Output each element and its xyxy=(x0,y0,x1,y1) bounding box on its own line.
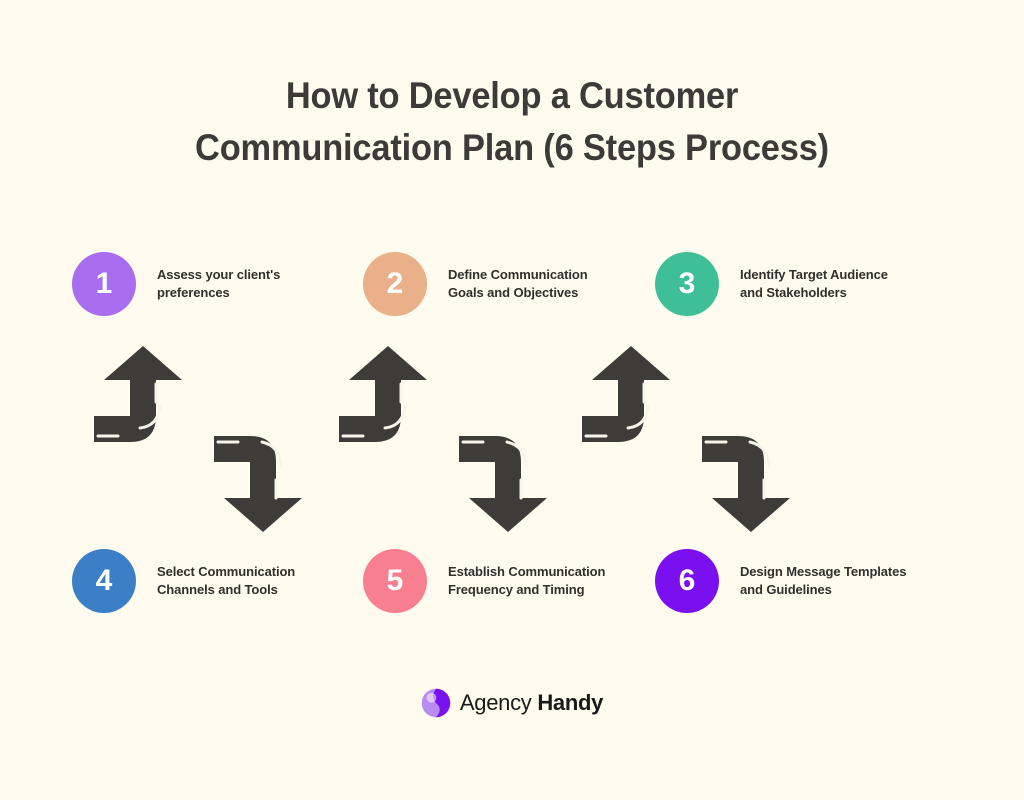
step-item-3[interactable]: 3 Identify Target Audience and Stakehold… xyxy=(655,252,888,316)
step-label-3-line-1: Identify Target Audience xyxy=(740,266,888,285)
step-label-4-line-1: Select Communication xyxy=(157,563,295,582)
step-number-badge-2: 2 xyxy=(363,252,427,316)
step-label-6-line-1: Design Message Templates xyxy=(740,563,906,582)
brand-name-handy: Handy xyxy=(537,690,603,715)
step-label-5-line-1: Establish Communication xyxy=(448,563,605,582)
step-label-1-line-1: Assess your client's xyxy=(157,266,280,285)
agency-handy-swirl-icon xyxy=(421,688,451,718)
step-label-1: Assess your client's preferences xyxy=(157,266,280,303)
step-label-2: Define Communication Goals and Objective… xyxy=(448,266,588,303)
arrow-up-icon-2 xyxy=(325,340,445,460)
page-title: How to Develop a Customer Communication … xyxy=(0,70,1024,174)
step-item-4[interactable]: 4 Select Communication Channels and Tool… xyxy=(72,549,295,613)
step-label-5: Establish Communication Frequency and Ti… xyxy=(448,563,605,600)
step-label-2-line-2: Goals and Objectives xyxy=(448,284,588,303)
step-label-5-line-2: Frequency and Timing xyxy=(448,581,605,600)
arrow-up-icon-1 xyxy=(80,340,200,460)
step-item-6[interactable]: 6 Design Message Templates and Guideline… xyxy=(655,549,906,613)
step-label-6-line-2: and Guidelines xyxy=(740,581,906,600)
page-title-line-2: Communication Plan (6 Steps Process) xyxy=(36,122,988,174)
arrow-down-icon-2 xyxy=(445,418,565,538)
step-label-2-line-1: Define Communication xyxy=(448,266,588,285)
brand-logo-text: Agency Handy xyxy=(460,690,603,716)
step-item-2[interactable]: 2 Define Communication Goals and Objecti… xyxy=(363,252,588,316)
brand-name-agency: Agency xyxy=(460,690,532,715)
page-title-line-1: How to Develop a Customer xyxy=(36,70,988,122)
arrow-down-icon-3 xyxy=(688,418,808,538)
step-label-3: Identify Target Audience and Stakeholder… xyxy=(740,266,888,303)
arrow-up-icon-3 xyxy=(568,340,688,460)
step-item-5[interactable]: 5 Establish Communication Frequency and … xyxy=(363,549,605,613)
step-label-4-line-2: Channels and Tools xyxy=(157,581,295,600)
step-label-4: Select Communication Channels and Tools xyxy=(157,563,295,600)
step-item-1[interactable]: 1 Assess your client's preferences xyxy=(72,252,280,316)
brand-logo[interactable]: Agency Handy xyxy=(0,688,1024,718)
arrow-down-icon-1 xyxy=(200,418,320,538)
step-label-3-line-2: and Stakeholders xyxy=(740,284,888,303)
step-number-badge-3: 3 xyxy=(655,252,719,316)
step-label-1-line-2: preferences xyxy=(157,284,280,303)
step-label-6: Design Message Templates and Guidelines xyxy=(740,563,906,600)
step-number-badge-6: 6 xyxy=(655,549,719,613)
step-number-badge-4: 4 xyxy=(72,549,136,613)
step-number-badge-1: 1 xyxy=(72,252,136,316)
step-number-badge-5: 5 xyxy=(363,549,427,613)
